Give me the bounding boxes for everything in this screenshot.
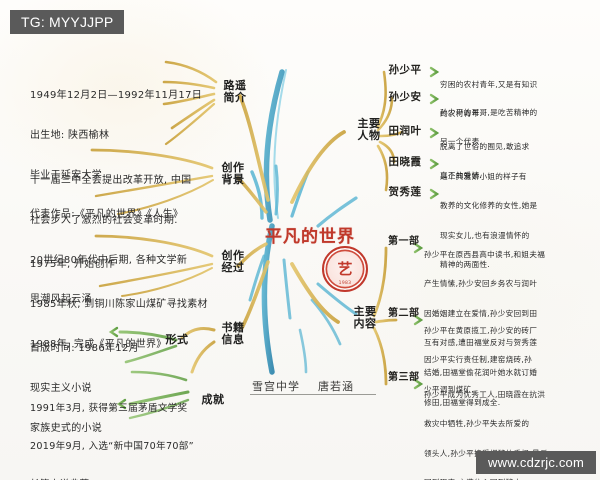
watermark-top-left: TG: MYYJJPP (10, 10, 124, 34)
detail-line: 1985年秋, 到铜川陈家山煤矿寻找素材 (30, 298, 208, 311)
detail-line: 1975年, 开始创作 (30, 258, 208, 271)
node-creative-process[interactable]: 创作 经过 (212, 250, 254, 275)
content-part-three-label[interactable]: 第三部 (388, 372, 404, 383)
detail-line: 脱离了世俗的囿见,敢追求 (440, 142, 590, 152)
central-trunk (250, 70, 356, 372)
node-book-info[interactable]: 书籍 信息 (212, 322, 254, 347)
content-part-one-label[interactable]: 第一部 (388, 236, 404, 247)
seal-year: 1983 (324, 281, 366, 286)
detail-line: 孙少平在原西县高中读书,和姐夫福 (424, 250, 592, 260)
character-name-sun-shaoping[interactable]: 孙少平 (388, 65, 422, 77)
detail-line: 十一届三中全会提出改革开放, 中国 (30, 174, 205, 187)
detail-line: 社会步入了激烈的社会变革时期. (30, 214, 205, 227)
seal-glyph: 艺 (337, 262, 352, 277)
character-arrows (420, 68, 437, 198)
school-seal-stamp: 艺 1983 (322, 246, 368, 292)
detail-line: 因少平实行责任制,建窑烧砖,孙 (424, 355, 592, 365)
detail-line: 产生情愫,孙少安回乡务农与润叶 (424, 279, 592, 289)
node-author-intro[interactable]: 路遥 简介 (214, 80, 256, 105)
detail-line: 首版时间: 1986年12月 (30, 342, 190, 355)
node-main-characters[interactable]: 主要 人物 (348, 118, 390, 143)
content-part-two-label[interactable]: 第二部 (388, 308, 404, 319)
detail-line: 救灾中牺牲,孙少平失去所爱的 (424, 419, 594, 429)
character-name-he-xiulian[interactable]: 贺秀莲 (388, 187, 422, 199)
signature-underline (250, 394, 376, 395)
detail-line: 是个典雅娇小姐的样子有 (440, 172, 592, 182)
detail-line: 1991年3月, 获得第三届茅盾文学奖 (30, 403, 202, 416)
character-name-sun-shaoan[interactable]: 孙少安 (388, 92, 422, 104)
mindmap-canvas: 平凡的世界 艺 1983 路遥 简介 创作 背景 创作 经过 书籍 信息 形式 … (0, 0, 600, 480)
character-name-tian-xiaoxia[interactable]: 田晓霞 (388, 157, 422, 169)
central-topic-title: 平凡的世界 (258, 222, 362, 247)
detail-line: 出生地: 陕西榆林 (30, 129, 200, 142)
detail-book-achievements: 1991年3月, 获得第三届茅盾文学奖 2019年9月, 入选“新中国70年70… (30, 378, 202, 480)
detail-line: 孙少平的哥哥,是吃苦精神的 (440, 108, 590, 118)
detail-line: 教养的文化修养的女性,她是 (440, 201, 592, 211)
detail-line: 孙少平成为优秀工人,田晓霞在抗洪 (424, 390, 594, 400)
node-main-content[interactable]: 主要 内容 (344, 306, 386, 331)
watermark-bottom-right: www.cdzrjc.com (476, 451, 596, 474)
node-creative-background[interactable]: 创作 背景 (212, 162, 254, 187)
author-signature: 雪宫中学 唐若涵 (252, 378, 354, 394)
detail-line: 2019年9月, 入选“新中国70年70部” (30, 441, 202, 454)
detail-line: 孙少平在黄原揽工,孙少安的砖厂 (424, 326, 592, 336)
detail-line: 1949年12月2日—1992年11月17日 (30, 89, 200, 102)
character-name-tian-runye[interactable]: 田润叶 (388, 126, 422, 138)
